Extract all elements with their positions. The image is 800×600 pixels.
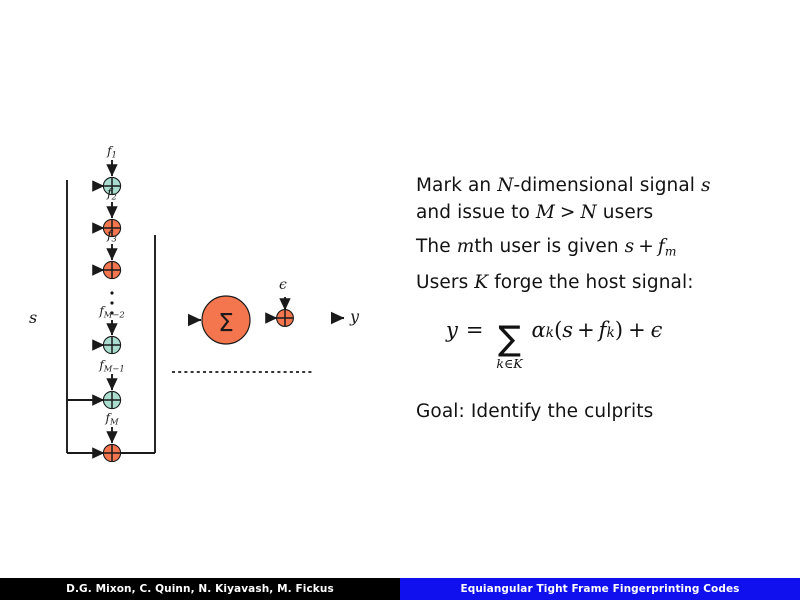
equation-s: s xyxy=(562,318,573,342)
block-diagram: f1 f2 f3 fM−2 fM−1 fM xyxy=(0,0,400,520)
equation-plus: + xyxy=(577,318,595,342)
slide-canvas: f1 f2 f3 fM−2 fM−1 fM xyxy=(0,0,800,600)
issue-prefix: and issue to xyxy=(416,202,536,223)
equation-lhs: y xyxy=(446,318,458,342)
tap-label-f2-sub: 2 xyxy=(111,192,117,202)
tap-label-fM-1: fM−1 xyxy=(98,358,124,374)
tap-label-f1: f1 xyxy=(106,144,117,160)
tap-label-f3-sub: 3 xyxy=(112,234,117,244)
symbol-plus: + xyxy=(638,236,654,257)
equation-summation: ∑ k∈K xyxy=(491,318,527,352)
symbol-K: K xyxy=(474,272,488,293)
forgery-equation: y = ∑ k∈K αk(s+fk)+ϵ xyxy=(446,306,776,372)
equation-open-paren: ( xyxy=(554,318,562,342)
tap-label-fM-2: fM−2 xyxy=(98,304,124,320)
symbol-M: M xyxy=(536,202,555,223)
statement-mark-signal: Mark an N-dimensional signal sand issue … xyxy=(416,172,776,227)
tap-node-f3 xyxy=(96,244,121,279)
summation-node: Σ xyxy=(190,296,250,344)
tap-label-fM-2-sub: M−2 xyxy=(103,310,125,320)
equation-alpha: α xyxy=(531,318,545,342)
noise-node xyxy=(268,297,293,326)
symbol-m: m xyxy=(457,236,475,257)
equation-close-paren: ) xyxy=(615,318,623,342)
equation-relation: = xyxy=(466,318,484,342)
forge-prefix: Users xyxy=(416,272,474,293)
symbol-f-subscript-m: m xyxy=(665,244,677,258)
tap-label-f1-sub: 1 xyxy=(112,150,117,160)
equation-alpha-subscript: k xyxy=(546,325,554,341)
forge-suffix: forge the host signal: xyxy=(488,272,693,293)
mth-mid: th user is given xyxy=(474,236,624,257)
mark-prefix: Mark an xyxy=(416,175,497,196)
symbol-s: s xyxy=(701,175,711,196)
mark-mid: -dimensional signal xyxy=(514,175,701,196)
tap-label-fM: fM xyxy=(104,411,118,427)
statement-goal: Goal: Identify the culprits xyxy=(416,398,776,425)
summation-limit: k∈K xyxy=(496,356,522,371)
footer-title: Equiangular Tight Frame Fingerprinting C… xyxy=(400,578,800,600)
symbol-s-2: s xyxy=(625,236,635,257)
statement-mth-user: The mth user is given s+fm xyxy=(416,233,776,260)
diagram-output-label: y xyxy=(350,307,359,326)
diagram-noise-label: ϵ xyxy=(279,277,287,293)
equation-plus-2: + xyxy=(628,318,646,342)
symbol-gt: > xyxy=(560,202,576,223)
statement-forge: Users K forge the host signal: xyxy=(416,269,776,296)
sigma-glyph: ∑ xyxy=(491,322,527,356)
body-text-column: Mark an N-dimensional signal sand issue … xyxy=(416,172,776,434)
tap-node-fM-1 xyxy=(96,374,121,409)
diagram-input-label: s xyxy=(29,308,37,327)
sum-glyph: Σ xyxy=(218,308,234,337)
equation-f: f xyxy=(599,318,607,342)
equation-epsilon: ϵ xyxy=(651,318,663,342)
tap-label-fM-1-sub: M−1 xyxy=(103,364,125,374)
symbol-N-2: N xyxy=(581,202,597,223)
tap-node-fM xyxy=(96,427,121,462)
tap-node-fM-2 xyxy=(96,320,121,354)
footer-authors: D.G. Mixon, C. Quinn, N. Kiyavash, M. Fi… xyxy=(0,578,400,600)
slide-footer: D.G. Mixon, C. Quinn, N. Kiyavash, M. Fi… xyxy=(0,578,800,600)
tap-label-fM-sub: M xyxy=(109,417,119,427)
equation-f-subscript: k xyxy=(606,325,614,341)
issue-suffix: users xyxy=(597,202,653,223)
symbol-N: N xyxy=(497,175,513,196)
mth-prefix: The xyxy=(416,236,457,257)
symbol-f: f xyxy=(658,236,665,257)
